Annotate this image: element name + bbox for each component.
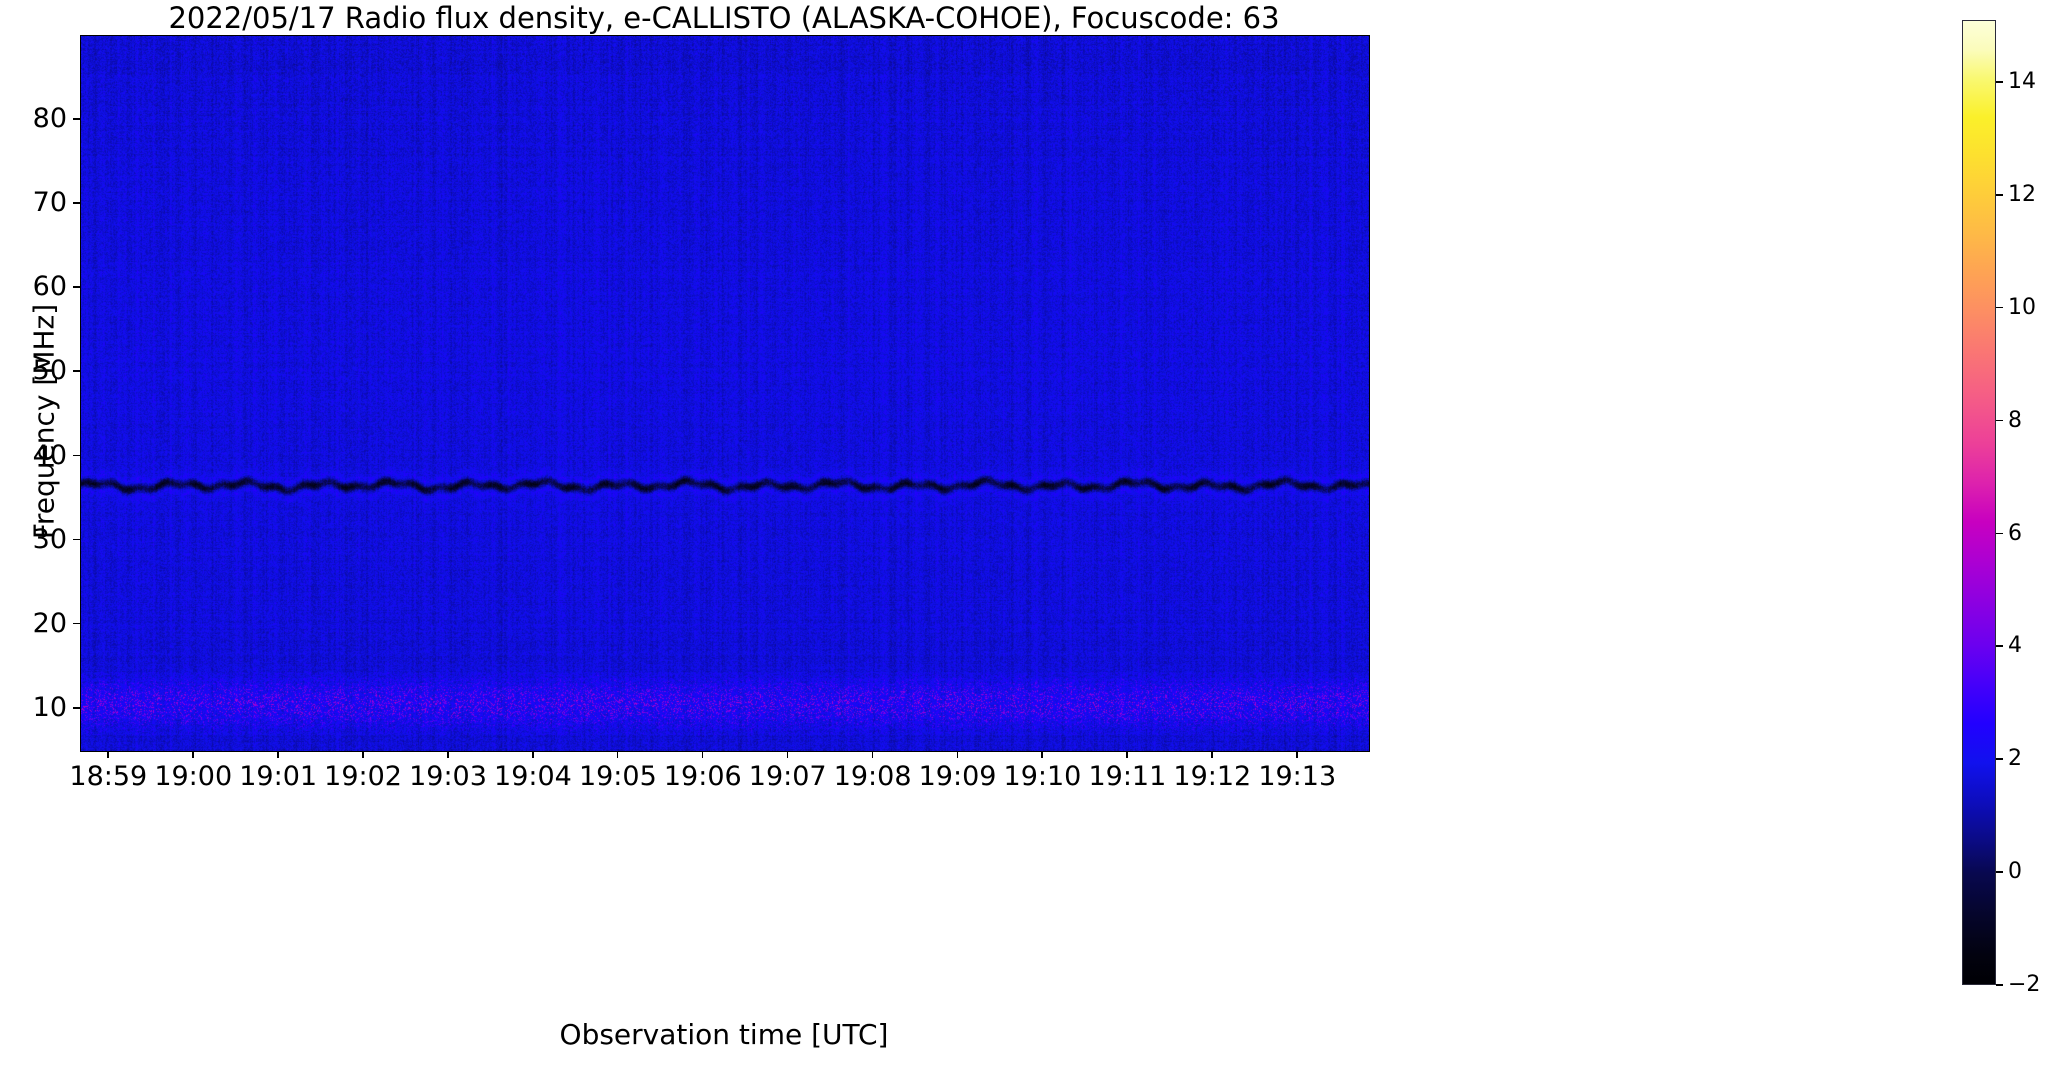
colorbar[interactable]: dB above background 14121086420−2	[1962, 20, 1996, 985]
y-tick-mark	[73, 623, 80, 625]
x-tick-mark	[617, 751, 619, 758]
colorbar-tick-label: 12	[2008, 180, 2036, 210]
colorbar-tick-label: 10	[2008, 293, 2036, 323]
colorbar-tick-label: 14	[2008, 67, 2036, 97]
x-tick-mark	[447, 751, 449, 758]
y-tick-label: 70	[33, 185, 67, 221]
y-tick-mark	[73, 118, 80, 120]
x-tick-mark	[787, 751, 789, 758]
colorbar-tick-mark	[1996, 420, 2003, 422]
y-tick-label: 20	[33, 606, 67, 642]
colorbar-tick-mark	[1996, 533, 2003, 535]
colorbar-tick-mark	[1996, 81, 2003, 83]
x-tick-mark	[1126, 751, 1128, 758]
x-tick-mark	[957, 751, 959, 758]
y-tick-label: 80	[33, 101, 67, 137]
x-tick-mark	[872, 751, 874, 758]
colorbar-tick-mark	[1996, 194, 2003, 196]
colorbar-tick-label: 2	[2008, 744, 2022, 774]
colorbar-gradient	[1962, 20, 1996, 985]
x-tick-mark	[1041, 751, 1043, 758]
figure-canvas: 2022/05/17 Radio flux density, e-CALLIST…	[0, 0, 2047, 1067]
y-tick-label: 50	[33, 353, 67, 389]
spectrogram-image	[81, 36, 1369, 751]
y-tick-mark	[73, 707, 80, 709]
y-tick-label: 60	[33, 269, 67, 305]
colorbar-tick-mark	[1996, 984, 2003, 986]
colorbar-tick-label: 6	[2008, 519, 2022, 549]
x-tick-label: 19:13	[1217, 761, 1377, 792]
colorbar-tick-label: 0	[2008, 857, 2022, 887]
colorbar-tick-mark	[1996, 758, 2003, 760]
x-tick-mark	[362, 751, 364, 758]
y-tick-mark	[73, 370, 80, 372]
x-tick-mark	[1211, 751, 1213, 758]
y-tick-mark	[73, 286, 80, 288]
x-tick-mark	[277, 751, 279, 758]
colorbar-tick-mark	[1996, 645, 2003, 647]
colorbar-tick-label: 4	[2008, 631, 2022, 661]
colorbar-tick-mark	[1996, 307, 2003, 309]
y-tick-label: 40	[33, 438, 67, 474]
x-tick-mark	[107, 751, 109, 758]
x-tick-mark	[1296, 751, 1298, 758]
page-title: 2022/05/17 Radio flux density, e-CALLIST…	[80, 2, 1368, 34]
y-tick-label: 30	[33, 522, 67, 558]
x-tick-mark	[192, 751, 194, 758]
spectrogram-plot-area[interactable]	[80, 35, 1370, 752]
colorbar-tick-label: −2	[2008, 970, 2040, 1000]
x-axis: 18:5919:0019:0119:0219:0319:0419:0519:06…	[80, 751, 1370, 811]
y-tick-label: 10	[33, 690, 67, 726]
colorbar-tick-mark	[1996, 871, 2003, 873]
colorbar-tick-label: 8	[2008, 406, 2022, 436]
x-tick-mark	[702, 751, 704, 758]
y-tick-mark	[73, 539, 80, 541]
y-tick-mark	[73, 455, 80, 457]
colorbar-axis: dB above background 14121086420−2	[1996, 20, 2047, 985]
x-tick-mark	[532, 751, 534, 758]
x-axis-label: Observation time [UTC]	[80, 1018, 1368, 1051]
y-axis: Frequency [MHz] 8070605040302010	[0, 35, 80, 752]
y-tick-mark	[73, 202, 80, 204]
